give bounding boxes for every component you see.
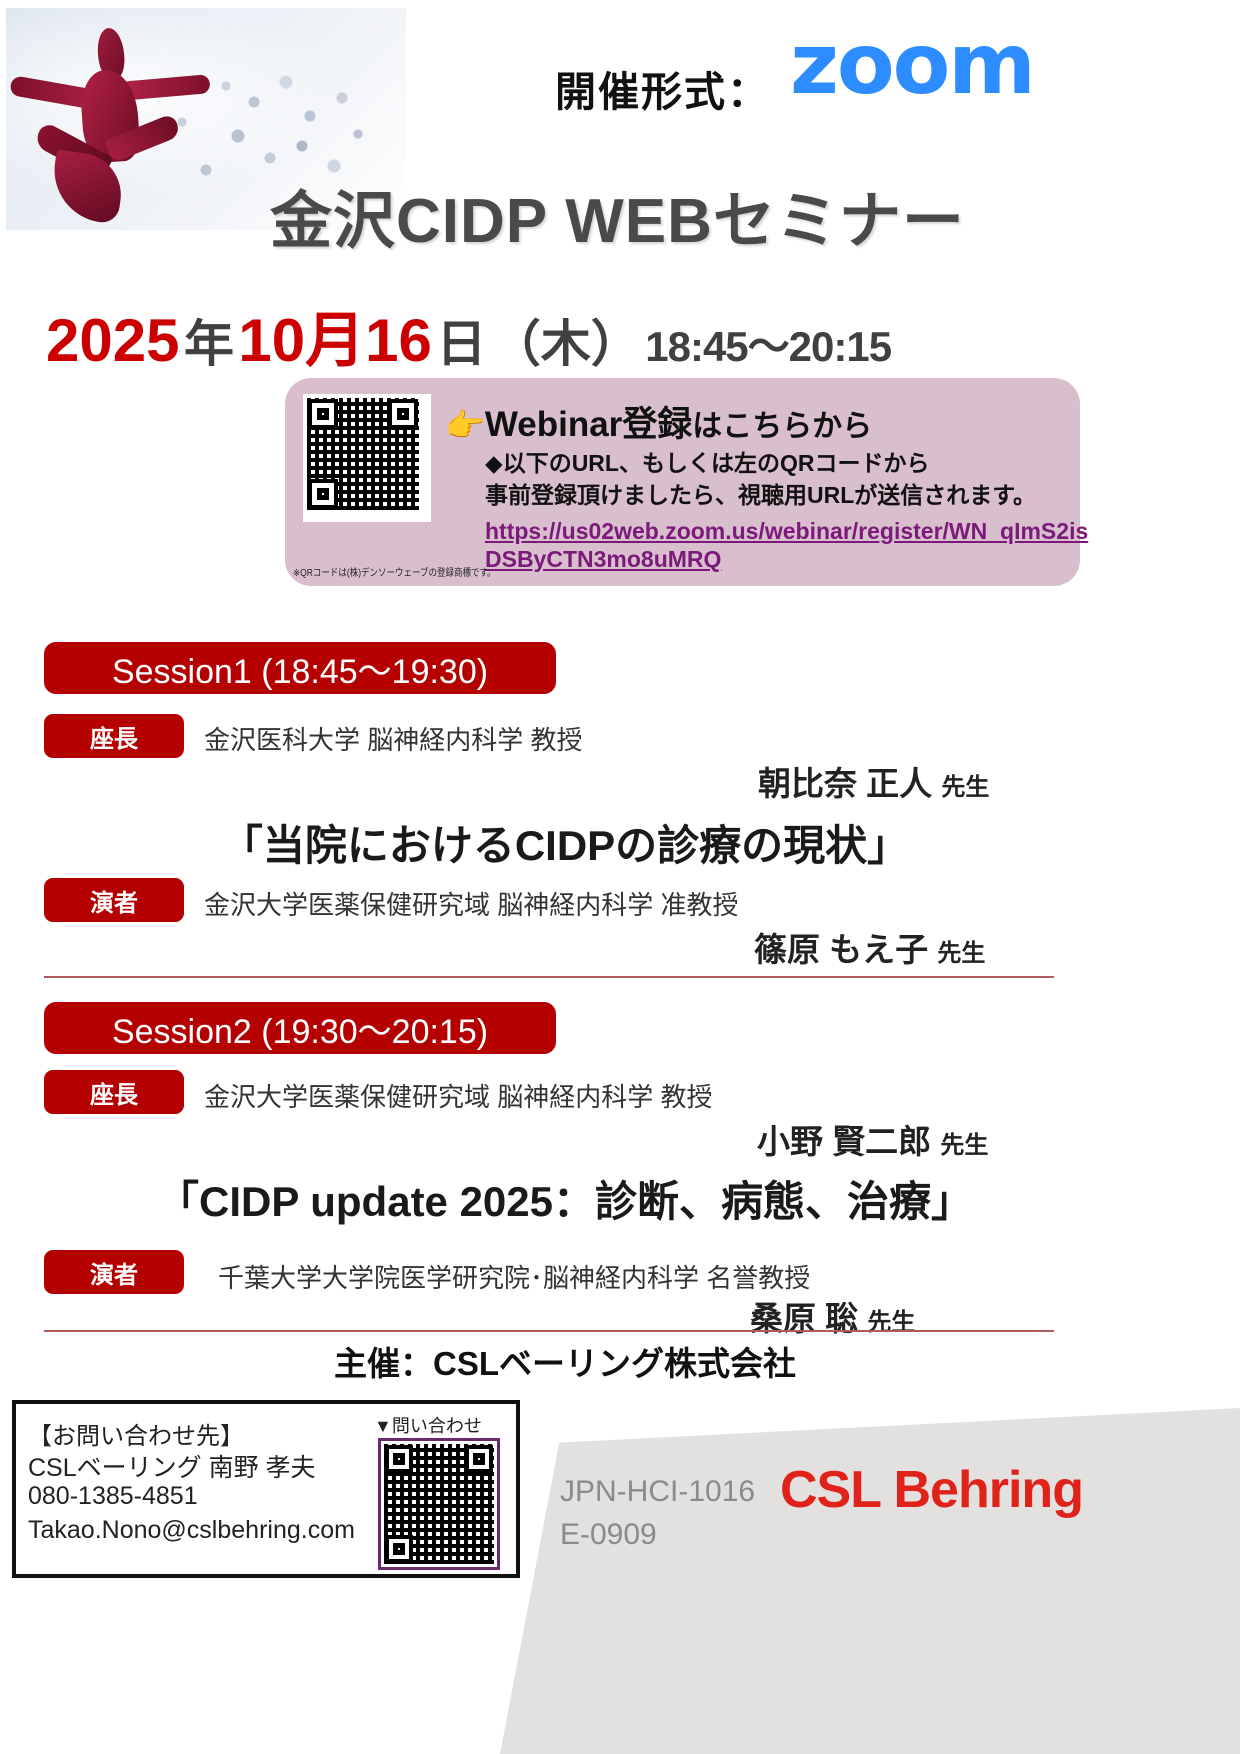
- session-1-lecture-title: 「当院におけるCIDPの診療の現状」: [0, 812, 1130, 873]
- job-code-line1: JPN-HCI-1016: [560, 1475, 755, 1509]
- header: 開催形式： zoom 金沢CIDP WEBセミナー: [0, 0, 1240, 270]
- registration-heading-tail: はこちらから: [692, 410, 872, 443]
- session-2-chair-name-text: 小野 賢二郎: [757, 1123, 931, 1160]
- date-year: 2025: [46, 307, 179, 374]
- contact-person-name: CSLベーリング 南野 孝夫: [28, 1448, 316, 1484]
- sponsor-line: 主催：CSLベーリング株式会社: [0, 1337, 1130, 1385]
- session-1-speaker-affiliation: 金沢大学医薬保健研究域 脳神経内科学 准教授: [204, 885, 738, 922]
- session-2-chair-honorific: 先生: [940, 1132, 988, 1159]
- contact-qr-code[interactable]: [378, 1438, 500, 1570]
- session-1-chair-affiliation: 金沢医科大学 脳神経内科学 教授: [204, 720, 582, 757]
- session-1-speaker-role: 演者: [44, 878, 184, 922]
- job-code-line2: E-0909: [560, 1518, 657, 1552]
- session-2-lecture-title: 「CIDP update 2025：診断、病態、治療」: [0, 1168, 1130, 1229]
- registration-heading-main: Webinar登録: [485, 405, 692, 444]
- format-label: 開催形式：: [555, 58, 770, 118]
- zoom-logo: zoom: [790, 22, 1034, 106]
- session-1-chair-name-text: 朝比奈 正人: [758, 765, 932, 802]
- registration-panel: 👉Webinar登録はこちらから ◆以下のURL、もしくは左のQRコードから 事…: [285, 378, 1080, 586]
- registration-url-line2[interactable]: DSByCTN3mo8uMRQ: [485, 546, 721, 573]
- date-month-day: 10月16: [238, 307, 431, 374]
- contact-phone[interactable]: 080-1385-4851: [28, 1482, 198, 1511]
- contact-box: 【お問い合わせ先】 CSLベーリング 南野 孝夫 080-1385-4851 T…: [12, 1400, 520, 1578]
- registration-note-line2: 事前登録頂けましたら、視聴用URLが送信されます。: [485, 476, 1036, 510]
- session-1-speaker-name-text: 篠原 もえ子: [754, 931, 928, 968]
- session-2-chair-name: 小野 賢二郎 先生: [757, 1115, 988, 1163]
- session-divider-1: [44, 976, 1054, 978]
- session-2-pill: Session2 (19:30〜20:15): [44, 1002, 556, 1054]
- date-day-of-week: （木）: [491, 316, 641, 372]
- session-1-speaker-honorific: 先生: [937, 940, 985, 967]
- contact-heading: 【お問い合わせ先】: [28, 1416, 244, 1451]
- qr-trademark-note: ※QRコードは(株)デンソーウェーブの登録商標です。: [293, 564, 496, 579]
- registration-note-line1: ◆以下のURL、もしくは左のQRコードから: [485, 444, 929, 478]
- session-2-speaker-affiliation: 千葉大学大学院医学研究院･脳神経内科学 名誉教授: [218, 1258, 810, 1295]
- session-1-speaker-name: 篠原 もえ子 先生: [754, 923, 985, 971]
- red-human-figure-icon: [16, 26, 216, 226]
- session-1-chair-role: 座長: [44, 714, 184, 758]
- date-day-unit: 日: [436, 316, 486, 372]
- event-date-line: 2025 年 10月16 日 （木） 18:45〜20:15: [46, 292, 1196, 358]
- registration-qr-code[interactable]: [303, 394, 431, 522]
- session-2-speaker-name: 桑原 聡 先生: [750, 1292, 915, 1340]
- contact-email[interactable]: Takao.Nono@cslbehring.com: [28, 1516, 355, 1545]
- session-1-pill: Session1 (18:45〜19:30): [44, 642, 556, 694]
- session-divider-2: [44, 1330, 1054, 1332]
- contact-qr-label: ▼問い合わせ: [374, 1412, 482, 1438]
- registration-url-line1[interactable]: https://us02web.zoom.us/webinar/register…: [485, 518, 1088, 545]
- page-title: 金沢CIDP WEBセミナー: [270, 170, 965, 260]
- date-year-unit: 年: [184, 316, 234, 372]
- session-2-chair-affiliation: 金沢大学医薬保健研究域 脳神経内科学 教授: [204, 1077, 712, 1114]
- session-1-chair-name: 朝比奈 正人 先生: [758, 757, 989, 805]
- registration-heading: 👉Webinar登録はこちらから: [445, 396, 872, 447]
- session-1-chair-honorific: 先生: [941, 774, 989, 801]
- session-2-chair-role: 座長: [44, 1070, 184, 1114]
- event-time-range: 18:45〜20:15: [645, 323, 891, 370]
- session-2-speaker-role: 演者: [44, 1250, 184, 1294]
- csl-behring-logo: CSL Behring: [780, 1460, 1083, 1520]
- pointing-hand-icon: 👉: [445, 407, 485, 443]
